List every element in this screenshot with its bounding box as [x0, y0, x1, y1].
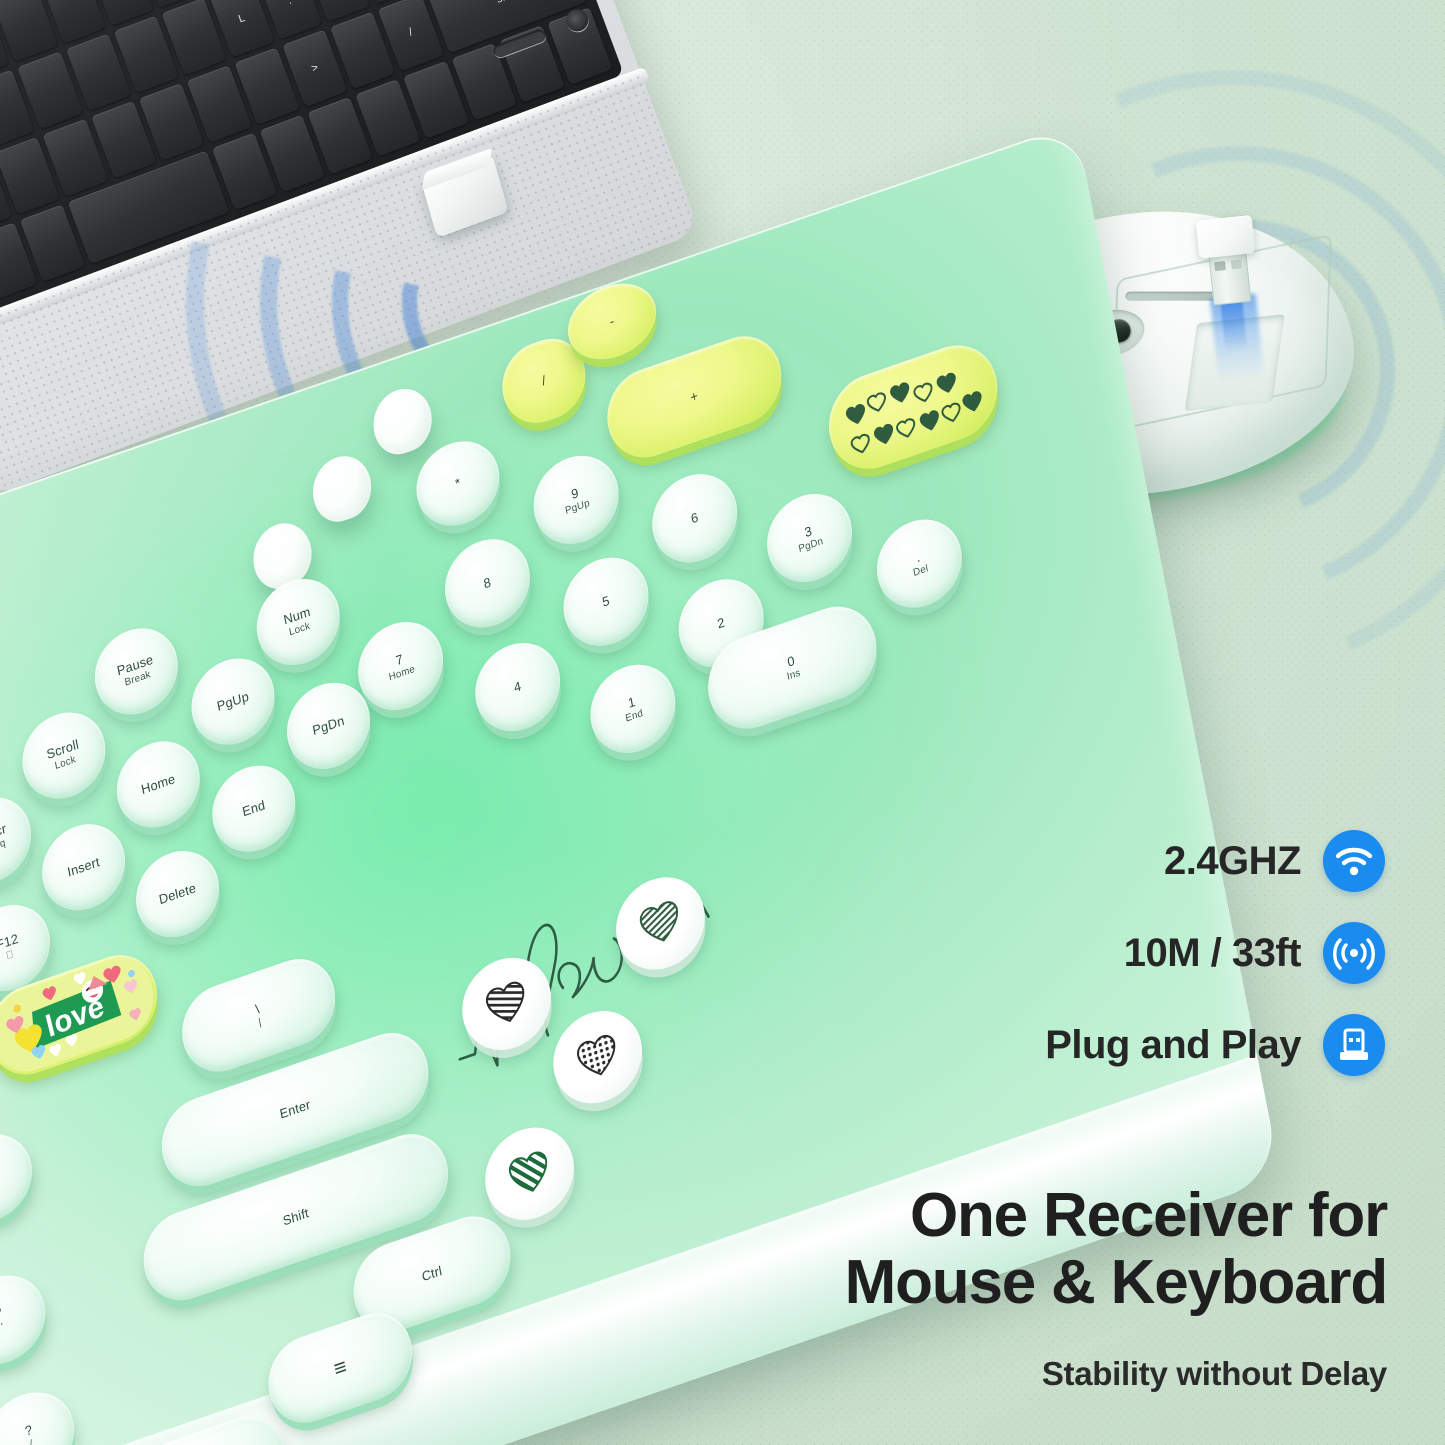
key-label: 1 [627, 694, 637, 711]
key-label: + [689, 388, 699, 405]
key-label: Home [140, 771, 176, 797]
key-sublabel: PgUp [564, 498, 591, 517]
key-label: 6 [690, 510, 700, 527]
feature-list: 2.4GHZ 10M / 33ft [1055, 815, 1385, 1091]
usb-receiver-from-mouse[interactable] [1196, 215, 1264, 340]
heart-lined-icon [636, 897, 685, 951]
headline-line-2: Mouse & Keyboard [727, 1250, 1387, 1317]
feature-label: 10M / 33ft [1124, 931, 1301, 976]
usb-port[interactable] [492, 28, 547, 59]
wifi-icon [1323, 830, 1385, 892]
feature-label: Plug and Play [1045, 1023, 1301, 1068]
usb-receiver-cap [1196, 215, 1256, 259]
laptop-key[interactable] [0, 0, 58, 62]
key-label: 0 [786, 653, 796, 670]
usb-receiver-icon [1323, 1014, 1385, 1076]
heart-diagonal-stripe-icon [505, 1147, 554, 1201]
key-label: . [915, 550, 921, 566]
audio-jack-port[interactable] [563, 6, 591, 34]
key-sublabel: ' [0, 1322, 4, 1334]
key-label: PgUp [216, 689, 250, 714]
feature-row-range: 10M / 33ft [1055, 907, 1385, 999]
key-sublabel: / [29, 1438, 34, 1445]
key-label: 5 [601, 593, 611, 610]
key-label: 8 [482, 575, 492, 592]
key-label: 3 [803, 524, 813, 541]
key-label: Shift [282, 1206, 310, 1229]
key-label: ? [24, 1422, 34, 1439]
feature-row-plug-and-play: Plug and Play [1055, 999, 1385, 1091]
key-label: 2 [716, 615, 726, 632]
key-label: - [608, 314, 615, 330]
key-sublabel: Home [388, 664, 416, 684]
key-label: * [454, 475, 462, 491]
key-label: 4 [513, 679, 523, 696]
menu-icon: ≡ [332, 1354, 349, 1383]
key-label: 9 [570, 485, 580, 502]
headline: One Receiver for Mouse & Keyboard [727, 1183, 1387, 1317]
key-label: Insert [66, 855, 101, 880]
heart-dotted-icon [573, 1030, 622, 1084]
usb-connector-icon [1208, 250, 1251, 306]
key-label: Delete [158, 881, 197, 908]
headline-line-1: One Receiver for [727, 1183, 1387, 1250]
feature-row-frequency: 2.4GHZ [1055, 815, 1385, 907]
key-sublabel: | [258, 1017, 263, 1029]
key-label: PgDn [311, 713, 345, 738]
product-image-canvas: F10 F11 F12 O P { } | delete [0, 0, 1445, 1445]
key-label: Ctrl [421, 1263, 444, 1284]
monitor-icon: ⎕ [6, 949, 14, 962]
signal-waves-icon [1323, 922, 1385, 984]
key-label: \ [254, 1001, 260, 1017]
key-label: End [241, 798, 266, 820]
key-sublabel: End [625, 708, 645, 725]
subheadline: Stability without Delay [1042, 1355, 1387, 1393]
key-label: / [541, 373, 547, 389]
key-sublabel: Del [912, 563, 929, 579]
key-sublabel: SysRq [0, 838, 7, 859]
key-label: 7 [395, 652, 405, 669]
key-label: Enter [279, 1097, 312, 1122]
feature-label: 2.4GHZ [1164, 839, 1301, 884]
key-label: " [0, 1306, 4, 1322]
key-sublabel: PgDn [798, 536, 825, 555]
heart-striped-icon [482, 977, 531, 1031]
